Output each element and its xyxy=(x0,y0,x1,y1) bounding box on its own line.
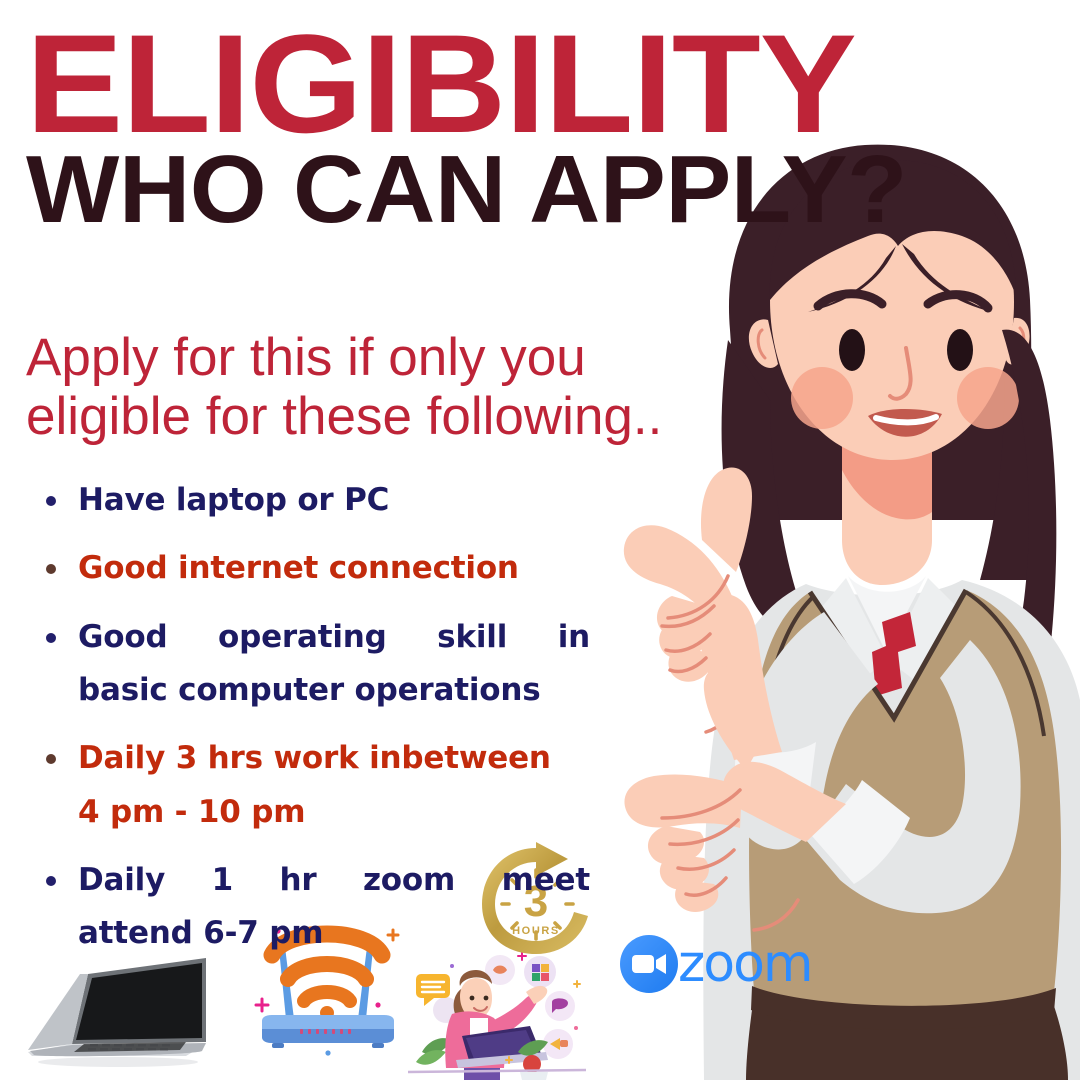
requirement-text-line-2: basic computer operations xyxy=(78,664,590,717)
list-item: Daily 3 hrs work inbetween 4 pm - 10 pm xyxy=(34,732,590,839)
requirement-text: Have laptop or PC xyxy=(78,474,590,527)
requirement-text-line-2: attend 6-7 pm xyxy=(78,907,590,960)
list-item: Good internet connection xyxy=(34,542,590,595)
bullet-marker-icon xyxy=(46,564,56,574)
requirement-text: Good internet connection xyxy=(78,542,590,595)
zoom-wordmark: zoom xyxy=(678,938,812,990)
page-subtitle: WHO CAN APPLY? xyxy=(26,146,932,234)
requirement-text-line-1: Good operating skill in xyxy=(78,611,590,664)
lead-line-2: eligible for these following.. xyxy=(26,387,726,446)
lead-paragraph: Apply for this if only you eligible for … xyxy=(26,328,726,447)
headline-block: ELIGIBILITY WHO CAN APPLY? xyxy=(26,24,906,235)
bullet-marker-icon xyxy=(46,633,56,643)
bullet-marker-icon xyxy=(46,754,56,764)
lead-line-1: Apply for this if only you xyxy=(26,328,726,387)
requirement-text-line-1: Daily 3 hrs work inbetween xyxy=(78,732,590,785)
bullet-marker-icon xyxy=(46,496,56,506)
list-item: Have laptop or PC xyxy=(34,474,590,527)
page-title: ELIGIBILITY xyxy=(26,24,941,144)
list-item: Good operating skill in basic computer o… xyxy=(34,611,590,718)
bullet-marker-icon xyxy=(46,876,56,886)
requirement-text-line-1: Daily 1 hr zoom meet xyxy=(78,854,590,907)
zoom-camera-icon xyxy=(620,935,678,993)
zoom-logo: zoom xyxy=(620,933,810,995)
requirements-list: Have laptop or PC Good internet connecti… xyxy=(34,474,590,976)
poster-canvas: ELIGIBILITY WHO CAN APPLY? Apply for thi… xyxy=(0,0,1080,1080)
list-item: Daily 1 hr zoom meet attend 6-7 pm xyxy=(34,854,590,961)
requirement-text-line-2: 4 pm - 10 pm xyxy=(78,786,590,839)
